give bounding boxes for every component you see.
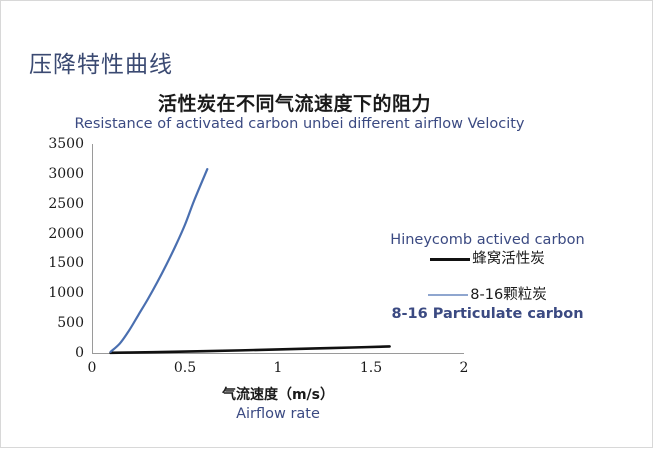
legend-label-honeycomb-cn: 蜂窝活性炭	[472, 249, 545, 269]
y-tick-label: 0	[75, 345, 84, 361]
legend-swatch-particulate	[428, 294, 468, 296]
x-axis-title-english: Airflow rate	[92, 406, 464, 422]
legend-swatch-honeycomb	[430, 258, 470, 261]
series-line-honeycomb	[111, 346, 390, 352]
y-tick-label: 500	[57, 315, 84, 331]
chart-legend: Hineycomb actived carbon 蜂窝活性炭 8-16颗粒炭 8…	[375, 231, 600, 323]
y-tick-label: 3000	[48, 166, 84, 182]
y-tick-label: 1500	[48, 255, 84, 271]
y-tick-label: 3500	[48, 136, 84, 152]
legend-label-honeycomb-en: Hineycomb actived carbon	[375, 231, 600, 249]
legend-entry-particulate: 8-16颗粒炭	[375, 285, 600, 305]
series-line-particulate	[111, 169, 208, 352]
chart-subtitle-english: Resistance of activated carbon unbei dif…	[1, 116, 653, 132]
chart-title-chinese: 活性炭在不同气流速度下的阻力	[1, 89, 653, 116]
y-tick-label: 2500	[48, 196, 84, 212]
slide-canvas: 压降特性曲线 活性炭在不同气流速度下的阻力 Resistance of acti…	[0, 0, 653, 448]
legend-label-particulate-cn: 8-16颗粒炭	[470, 285, 546, 305]
legend-spacer	[375, 269, 600, 285]
x-tick-label: 0.5	[174, 360, 196, 376]
x-tick-label: 0	[88, 360, 97, 376]
y-tick-label: 1000	[48, 285, 84, 301]
chart-container: 活性炭在不同气流速度下的阻力 Resistance of activated c…	[1, 89, 653, 449]
legend-entry-honeycomb: 蜂窝活性炭	[375, 249, 600, 269]
page-title: 压降特性曲线	[29, 45, 173, 79]
x-tick-label: 2	[460, 360, 469, 376]
x-tick-label: 1.5	[360, 360, 382, 376]
x-axis-title-chinese: 气流速度（m/s）	[92, 384, 464, 404]
x-tick-label: 1	[274, 360, 283, 376]
y-tick-label: 2000	[48, 226, 84, 242]
legend-label-particulate-en: 8-16 Particulate carbon	[375, 305, 600, 323]
